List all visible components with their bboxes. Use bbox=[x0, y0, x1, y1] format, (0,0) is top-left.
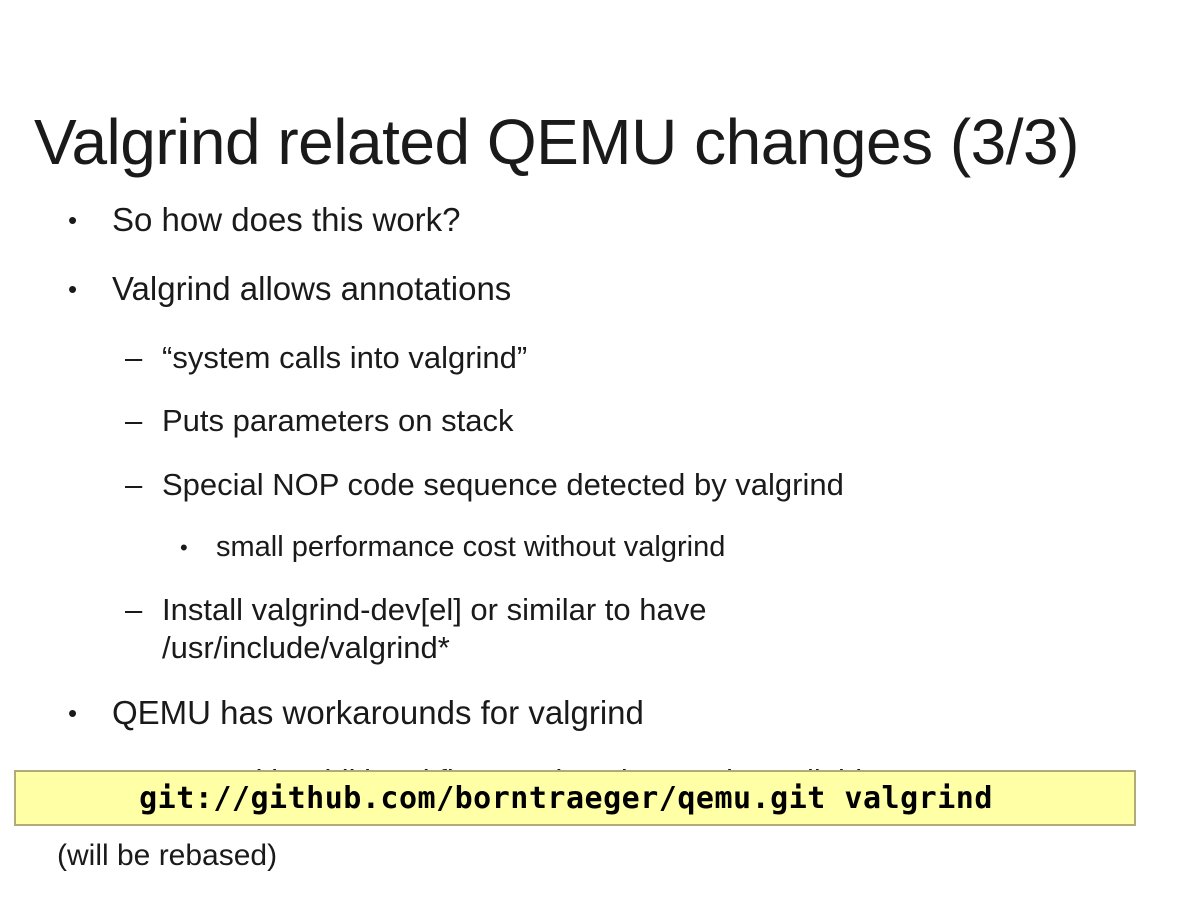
list-item-label-line2: /usr/include/valgrind* bbox=[162, 629, 1200, 667]
list-item: – Special NOP code sequence detected by … bbox=[0, 466, 1200, 504]
list-item: • So how does this work? bbox=[0, 200, 1200, 240]
list-item-label: Install valgrind-dev[el] or similar to h… bbox=[162, 591, 1200, 629]
git-repository-url[interactable]: git://github.com/borntraeger/qemu.git va… bbox=[139, 781, 993, 816]
dash-marker-icon: – bbox=[125, 402, 142, 440]
list-item-label: QEMU has workarounds for valgrind bbox=[112, 693, 1200, 733]
page-title: Valgrind related QEMU changes (3/3) bbox=[34, 109, 1174, 176]
highlighted-code-box: git://github.com/borntraeger/qemu.git va… bbox=[14, 770, 1136, 826]
list-item-label: small performance cost without valgrind bbox=[216, 530, 1200, 565]
list-item: – Puts parameters on stack bbox=[0, 402, 1200, 440]
dash-marker-icon: – bbox=[125, 591, 142, 629]
bullet-marker-icon: • bbox=[180, 530, 188, 565]
list-item-label: “system calls into valgrind” bbox=[162, 339, 1200, 377]
list-item-label: So how does this work? bbox=[112, 200, 1200, 240]
list-item-label: Puts parameters on stack bbox=[162, 402, 1200, 440]
list-item: • QEMU has workarounds for valgrind bbox=[0, 693, 1200, 733]
list-item: – Install valgrind-dev[el] or similar to… bbox=[0, 591, 1200, 667]
dash-marker-icon: – bbox=[125, 466, 142, 504]
list-item-label: Valgrind allows annotations bbox=[112, 269, 1200, 309]
bullet-marker-icon: • bbox=[68, 200, 77, 240]
slide-body-outline: • So how does this work? • Valgrind allo… bbox=[0, 200, 1200, 826]
footer-note: (will be rebased) bbox=[57, 838, 277, 874]
dash-marker-icon: – bbox=[125, 339, 142, 377]
list-item: – “system calls into valgrind” bbox=[0, 339, 1200, 377]
presentation-slide: Valgrind related QEMU changes (3/3) • So… bbox=[0, 0, 1200, 900]
list-item: • Valgrind allows annotations bbox=[0, 269, 1200, 309]
list-item: • small performance cost without valgrin… bbox=[0, 530, 1200, 565]
bullet-marker-icon: • bbox=[68, 693, 77, 733]
bullet-marker-icon: • bbox=[68, 269, 77, 309]
list-item-label: Special NOP code sequence detected by va… bbox=[162, 466, 1200, 504]
